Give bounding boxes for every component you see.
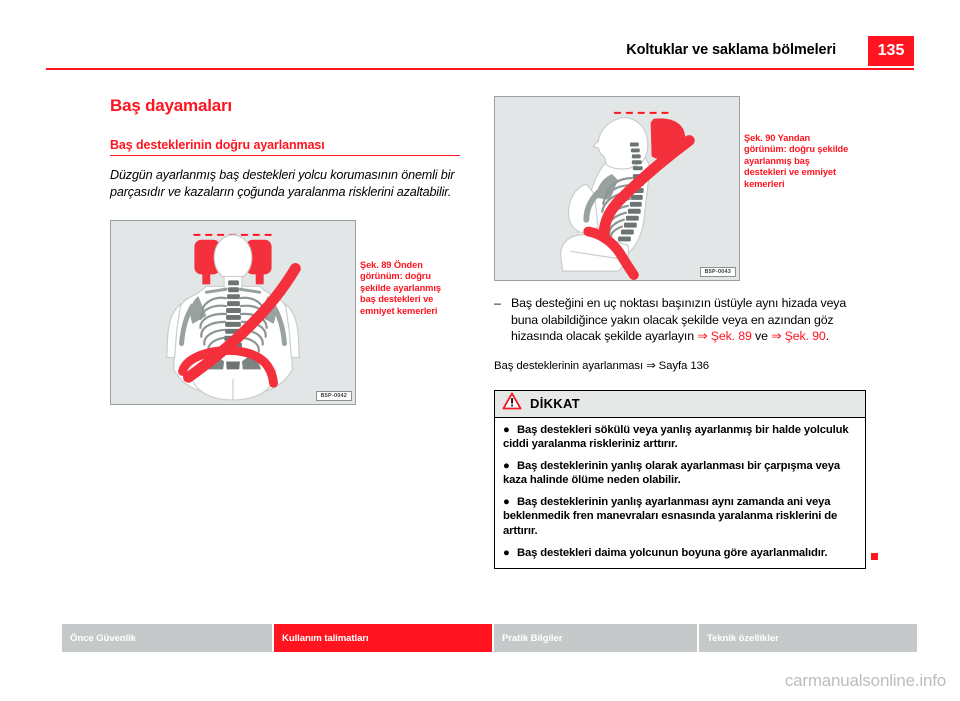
section-title: Baş dayamaları (110, 96, 460, 116)
section-end-marker (871, 553, 878, 560)
figure-front-view: B5P-0042 (110, 220, 356, 405)
warning-wrapper: DİKKAT ●Baş destekleri sökülü veya yanlı… (494, 390, 866, 570)
warning-title: DİKKAT (530, 396, 580, 411)
warning-item: ●Baş desteklerinin yanlış ayarlanması ay… (503, 495, 857, 539)
instruction-text: Baş desteğini en uç noktası başınızın üs… (511, 295, 866, 345)
footer-tab-pratik-bilgiler[interactable]: Pratik Bilgiler (494, 624, 699, 652)
subsection-title: Baş desteklerinin doğru ayarlanması (110, 138, 460, 156)
page-cross-reference[interactable]: Baş desteklerinin ayarlanması ⇒ Sayfa 13… (494, 359, 866, 374)
cross-reference-fig89[interactable]: ⇒ Şek. 89 (697, 329, 752, 343)
cross-reference-fig90[interactable]: ⇒ Şek. 90 (771, 329, 826, 343)
footer-divider (46, 617, 914, 619)
header-divider (46, 68, 914, 70)
warning-body: ●Baş destekleri sökülü veya yanlış ayarl… (495, 418, 865, 569)
figure-id-label: B5P-0043 (700, 267, 736, 277)
bullet-icon: ● (503, 495, 517, 510)
figure-id-label: B5P-0042 (316, 391, 352, 401)
warning-item: ●Baş destekleri daima yolcunun boyuna gö… (503, 546, 857, 561)
page-header: Koltuklar ve saklama bölmeleri 135 (46, 40, 914, 70)
warning-item: ●Baş desteklerinin yanlış olarak ayarlan… (503, 459, 857, 488)
warning-item-text: Baş desteklerinin yanlış olarak ayarlanm… (503, 460, 840, 487)
footer-tab-bar: Önce Güvenlik Kullanım talimatları Prati… (62, 624, 917, 652)
warning-item: ●Baş destekleri sökülü veya yanlış ayarl… (503, 423, 857, 452)
left-column: Baş dayamaları Baş desteklerinin doğru a… (110, 96, 460, 405)
figure-side-view: B5P-0043 (494, 96, 740, 281)
instruction-text-part2: ve (752, 329, 771, 343)
bullet-icon: ● (503, 423, 517, 438)
instruction-dash-item: – Baş desteğini en uç noktası başınızın … (494, 295, 866, 345)
page-number-badge: 135 (868, 36, 914, 66)
warning-box: DİKKAT ●Baş destekleri sökülü veya yanlı… (494, 390, 866, 570)
footer-tab-teknik-ozellikler[interactable]: Teknik özellikler (699, 624, 917, 652)
front-view-illustration (111, 221, 355, 404)
footer-tab-kullanim-talimatlari[interactable]: Kullanım talimatları (274, 624, 494, 652)
figure-caption-front: Şek. 89 Önden görünüm: doğru şekilde aya… (360, 260, 456, 317)
instruction-text-part3: . (826, 329, 829, 343)
bullet-icon: ● (503, 459, 517, 474)
figure-caption-side: Şek. 90 Yandan görünüm: doğru şekilde ay… (744, 133, 854, 190)
bullet-icon: ● (503, 546, 517, 561)
dash-marker: – (494, 295, 511, 345)
footer-tab-onceguvenlik[interactable]: Önce Güvenlik (62, 624, 274, 652)
warning-item-text: Baş destekleri daima yolcunun boyuna gör… (517, 547, 827, 559)
warning-item-text: Baş desteklerinin yanlış ayarlanması ayn… (503, 496, 837, 537)
site-watermark: carmanualsonline.info (785, 671, 946, 691)
warning-item-text: Baş destekleri sökülü veya yanlış ayarla… (503, 424, 849, 451)
side-view-illustration (495, 97, 739, 280)
intro-paragraph: Düzgün ayarlanmış baş destekleri yolcu k… (110, 167, 460, 200)
warning-header: DİKKAT (495, 391, 865, 418)
page-title: Koltuklar ve saklama bölmeleri (626, 42, 836, 58)
warning-triangle-icon (502, 392, 522, 415)
